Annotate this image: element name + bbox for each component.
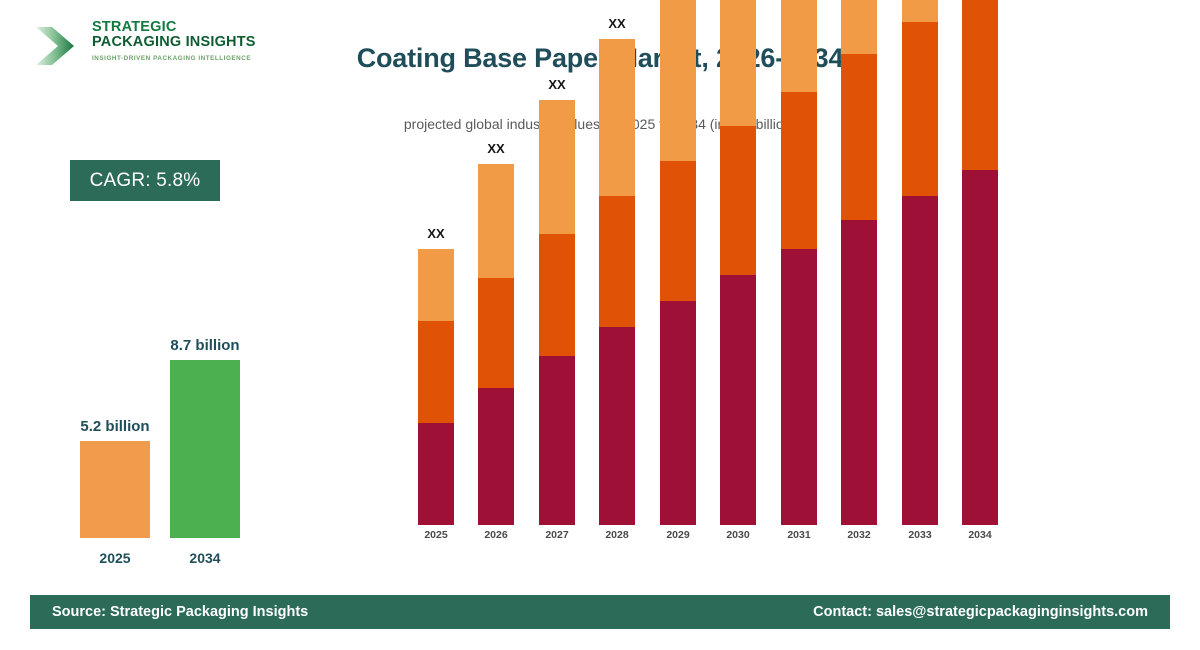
- chart-bar-segment-segment-1: [660, 301, 696, 525]
- chart-bar-segment-segment-2: [902, 22, 938, 197]
- chart-bar-segment-segment-3: [418, 249, 454, 322]
- chart-x-tick-label: 2025: [424, 529, 447, 541]
- chart-column: XX: [781, 0, 817, 525]
- chart-bar-segment-segment-2: [781, 92, 817, 249]
- chart-x-tick-label: 2030: [726, 529, 749, 541]
- chart-bar-segment-segment-3: [720, 0, 756, 126]
- chart-x-tick-label: 2026: [484, 529, 507, 541]
- chart-bar-segment-segment-3: [478, 164, 514, 277]
- footer-contact: Contact: sales@strategicpackaginginsight…: [813, 604, 1148, 620]
- chart-x-tick-label: 2031: [787, 529, 810, 541]
- chart-column: XX: [478, 164, 514, 525]
- chart-bar-label: XX: [427, 226, 444, 241]
- chart-bar-segment-segment-1: [599, 327, 635, 525]
- comparison-column-end: 8.7 billion 2034: [170, 360, 240, 538]
- chart-bar-segment-segment-3: [599, 39, 635, 196]
- comparison-end-bar: [170, 360, 240, 538]
- chart-bar-segment-segment-1: [539, 356, 575, 525]
- chart-bar-label: XX: [487, 141, 504, 156]
- chart-bar-segment-segment-3: [660, 0, 696, 161]
- chart-bar-segment-segment-2: [599, 196, 635, 327]
- chart-x-tick-label: 2034: [968, 529, 991, 541]
- chart-bar-segment-segment-2: [418, 321, 454, 423]
- chart-bar-segment-segment-3: [781, 0, 817, 92]
- chart-x-axis: 2025202620272028202920302031203220332034: [418, 525, 998, 553]
- comparison-start-bar: [80, 441, 150, 538]
- chart-column: XX: [539, 100, 575, 525]
- chart-x-tick-label: 2027: [545, 529, 568, 541]
- chart-column: XX: [841, 0, 877, 525]
- chart-column: XX: [902, 0, 938, 525]
- chart-bar-segment-segment-2: [720, 126, 756, 274]
- chart-bar-label: XX: [608, 16, 625, 31]
- chart-bar-segment-segment-3: [902, 0, 938, 22]
- chart-x-tick-label: 2033: [908, 529, 931, 541]
- chart-x-tick-label: 2032: [847, 529, 870, 541]
- chart-bar-segment-segment-1: [478, 388, 514, 525]
- chart-bar-segment-segment-2: [962, 0, 998, 170]
- comparison-end-year: 2034: [189, 550, 220, 566]
- chart-bar-segment-segment-2: [478, 278, 514, 389]
- chart-bar-segment-segment-1: [902, 196, 938, 525]
- chart-bar-segment-segment-3: [841, 0, 877, 54]
- comparison-start-year: 2025: [99, 550, 130, 566]
- chart-column: XX: [720, 0, 756, 525]
- chart-column: XX: [660, 0, 696, 525]
- comparison-start-value: 5.2 billion: [80, 418, 149, 435]
- chart-column: XX: [599, 39, 635, 525]
- cagr-badge: CAGR: 5.8%: [70, 160, 220, 201]
- chart-bar-segment-segment-1: [720, 275, 756, 525]
- comparison-chart: 5.2 billion 2025 8.7 billion 2034: [55, 320, 270, 570]
- chart-bar-segment-segment-1: [781, 249, 817, 525]
- footer-bar: Source: Strategic Packaging Insights Con…: [30, 595, 1170, 629]
- chart-column: 5.8%: [962, 0, 998, 525]
- chart-bar-segment-segment-2: [841, 54, 877, 220]
- chart-bar-segment-segment-3: [539, 100, 575, 234]
- brand-line-1: STRATEGIC: [92, 20, 256, 35]
- stacked-column-chart: XXXXXXXXXXXXXXXXXX5.8% 20252026202720282…: [418, 205, 998, 553]
- chart-bar-segment-segment-1: [841, 220, 877, 525]
- comparison-end-value: 8.7 billion: [170, 337, 239, 354]
- chart-bar-label: XX: [548, 77, 565, 92]
- chart-bar-segment-segment-1: [418, 423, 454, 525]
- chart-plot-area: XXXXXXXXXXXXXXXXXX5.8%: [418, 205, 998, 525]
- chart-column: XX: [418, 249, 454, 525]
- chart-x-tick-label: 2028: [605, 529, 628, 541]
- chart-bar-segment-segment-1: [962, 170, 998, 525]
- chart-bar-segment-segment-2: [660, 161, 696, 301]
- chart-x-tick-label: 2029: [666, 529, 689, 541]
- chart-bar-segment-segment-2: [539, 234, 575, 356]
- footer-source: Source: Strategic Packaging Insights: [52, 604, 308, 620]
- infographic-canvas: STRATEGIC PACKAGING INSIGHTS INSIGHT-DRI…: [0, 0, 1200, 650]
- comparison-column-start: 5.2 billion 2025: [80, 441, 150, 538]
